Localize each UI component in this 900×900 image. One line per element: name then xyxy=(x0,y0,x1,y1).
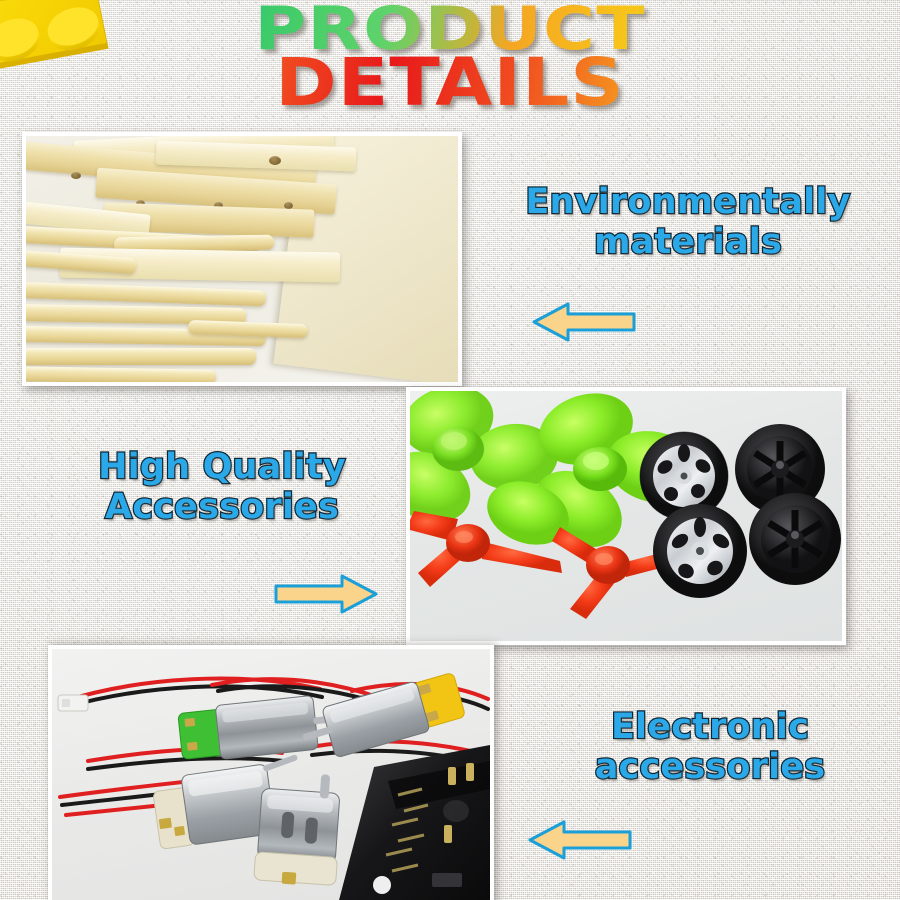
black-wheel xyxy=(749,493,841,585)
caption-line-1: Environmentally xyxy=(508,182,868,222)
arrow-to-wood-photo-icon xyxy=(528,294,640,350)
caption-line-2: materials xyxy=(508,222,868,262)
caption-line-2: accessories xyxy=(540,747,880,787)
drilled-hole xyxy=(269,156,281,165)
caption-line-1: Electronic xyxy=(540,707,880,747)
caption-high-quality-accessories: High Quality Accessories xyxy=(62,447,382,528)
caption-electronic-accessories: Electronic accessories xyxy=(540,707,880,788)
drilled-hole xyxy=(71,172,81,179)
product-details-infographic: PRODUCT DETAILS xyxy=(0,0,900,900)
caption-line-2: Accessories xyxy=(62,487,382,527)
yellow-lego-brick-icon xyxy=(0,0,142,130)
wood-dowel xyxy=(26,366,216,382)
battery-holder xyxy=(338,745,490,900)
accessories-photo xyxy=(406,387,846,645)
wood-materials-photo xyxy=(22,132,462,386)
chrome-wheel xyxy=(653,504,747,598)
caption-environmentally-materials: Environmentally materials xyxy=(508,182,868,263)
arrow-to-accessories-photo-icon xyxy=(270,566,382,622)
caption-line-1: High Quality xyxy=(62,447,382,487)
jst-connector xyxy=(58,695,88,711)
wood-dowel xyxy=(26,348,256,365)
arrow-to-motors-photo-icon xyxy=(524,812,636,868)
electronic-motors-photo xyxy=(48,645,494,900)
